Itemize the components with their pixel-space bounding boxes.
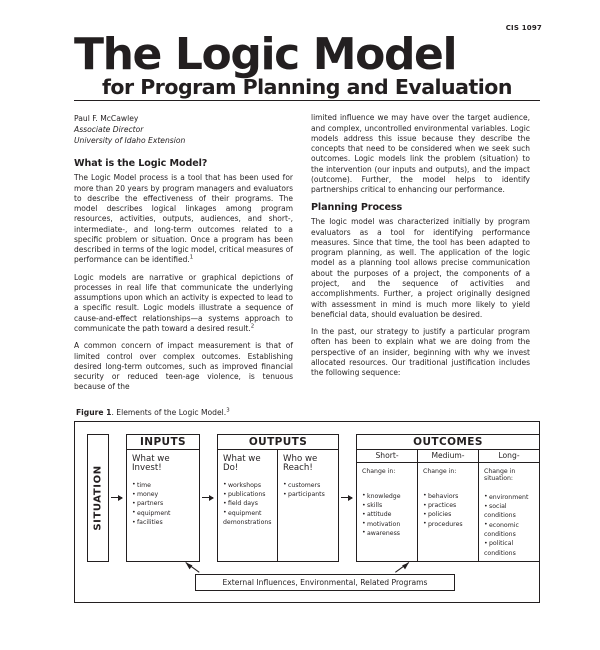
byline: Paul F. McCawley Associate Director Univ…: [74, 113, 293, 146]
paragraph-right-2: In the past, our strategy to justify a p…: [311, 327, 530, 378]
paragraph-left-3: A common concern of impact measurement i…: [74, 341, 293, 392]
list-item: awareness: [362, 530, 413, 539]
footnote-marker-2: 2: [251, 324, 254, 330]
outcomes-medium-label: Medium-: [418, 450, 479, 463]
two-column-body: Paul F. McCawley Associate Director Univ…: [74, 113, 540, 399]
paragraph-right-lead: limited influence we may have over the t…: [311, 113, 530, 195]
inputs-item-list: time money partners equipment facilities: [132, 482, 195, 528]
paragraph-left-2: Logic models are narrative or graphical …: [74, 273, 293, 335]
list-item: workshops: [223, 482, 273, 491]
diagram-box-situation: SITUATION: [87, 434, 109, 562]
outcomes-header: OUTCOMES: [357, 435, 539, 450]
inputs-lead: What we Invest!: [132, 455, 195, 474]
outputs-activities-cell: What we Do! workshops publications field…: [218, 450, 278, 562]
outcomes-short-cell: Change in: knowledge skills attitude mot…: [357, 463, 418, 562]
list-item: money: [132, 491, 195, 500]
outcomes-short-list: knowledge skills attitude motivation awa…: [362, 493, 413, 539]
paragraph-left-1: The Logic Model process is a tool that h…: [74, 173, 293, 265]
list-item: customers: [283, 482, 334, 491]
right-column: limited influence we may have over the t…: [311, 113, 530, 385]
figure-caption: Figure 1. Elements of the Logic Model.3: [76, 408, 540, 417]
paragraph-right-1: The logic model was characterized initia…: [311, 217, 530, 320]
outcomes-long-cell: Change in situation: environment social …: [479, 463, 539, 562]
outcomes-medium-cell: Change in: behaviors practices policies …: [418, 463, 479, 562]
outcomes-long-label: Long-: [479, 450, 539, 463]
outcomes-short-lead: Change in:: [362, 468, 413, 475]
situation-label: SITUATION: [93, 465, 104, 530]
author-name: Paul F. McCawley: [74, 113, 293, 124]
arrow-inputs-to-outputs: [202, 497, 213, 498]
left-column: Paul F. McCawley Associate Director Univ…: [74, 113, 293, 399]
author-role: Associate Director: [74, 124, 293, 135]
list-item: attitude: [362, 511, 413, 520]
figure-caption-text: . Elements of the Logic Model.: [111, 408, 226, 417]
figure-caption-label: Figure 1: [76, 408, 111, 417]
heading-what-is-the-logic-model: What is the Logic Model?: [74, 158, 293, 169]
list-item: demonstrations: [223, 519, 273, 528]
outcomes-columns: Change in: knowledge skills attitude mot…: [357, 463, 539, 562]
page-subtitle: for Program Planning and Evaluation: [74, 77, 540, 98]
paragraph-left-2-text: Logic models are narrative or graphical …: [74, 273, 293, 333]
diagram-box-external-influences: External Influences, Environmental, Rela…: [195, 574, 455, 591]
figure-1: Figure 1. Elements of the Logic Model.3 …: [74, 408, 540, 603]
title-divider: [74, 100, 540, 101]
list-item: practices: [423, 502, 474, 511]
outputs-activities-lead: What we Do!: [223, 455, 273, 474]
logic-model-diagram: SITUATION INPUTS What we Invest! time mo…: [74, 421, 540, 603]
list-item: procedures: [423, 521, 474, 530]
list-item: conditions: [484, 512, 535, 521]
page-title: The Logic Model: [74, 34, 540, 76]
author-organization: University of Idaho Extension: [74, 135, 293, 146]
list-item: facilities: [132, 519, 195, 528]
outcomes-medium-list: behaviors practices policies procedures: [423, 493, 474, 530]
list-item: conditions: [484, 550, 535, 559]
arrow-situation-to-inputs: [111, 497, 122, 498]
inputs-body: What we Invest! time money partners equi…: [127, 450, 199, 528]
external-influences-label: External Influences, Environmental, Rela…: [222, 578, 427, 587]
list-item: behaviors: [423, 493, 474, 502]
list-item: policies: [423, 511, 474, 520]
outputs-audiences-cell: Who we Reach! customers participants: [278, 450, 338, 562]
heading-planning-process: Planning Process: [311, 202, 530, 213]
arrow-external-to-inputs-head: [186, 562, 193, 569]
list-item: participants: [283, 491, 334, 500]
outputs-audiences-list: customers participants: [283, 482, 334, 500]
list-item: equipment: [223, 510, 273, 519]
list-item: publications: [223, 491, 273, 500]
diagram-box-outcomes: OUTCOMES Short- Medium- Long- Change in:…: [356, 434, 540, 562]
outcomes-subheaders: Short- Medium- Long-: [357, 450, 539, 463]
arrow-outputs-to-outcomes: [341, 497, 352, 498]
paragraph-left-1-text: The Logic Model process is a tool that h…: [74, 173, 293, 264]
outcomes-long-list: environment social conditions economic c…: [484, 494, 535, 559]
diagram-box-outputs: OUTPUTS What we Do! workshops publicatio…: [217, 434, 339, 562]
list-item: equipment: [132, 510, 195, 519]
outputs-subcolumns: What we Do! workshops publications field…: [218, 450, 338, 562]
outcomes-short-label: Short-: [357, 450, 418, 463]
list-item: political: [484, 540, 535, 549]
outcomes-medium-lead: Change in:: [423, 468, 474, 475]
arrow-external-to-outcomes-line: [395, 562, 409, 572]
inputs-header: INPUTS: [127, 435, 199, 450]
list-item: economic: [484, 522, 535, 531]
list-item: motivation: [362, 521, 413, 530]
list-item: field days: [223, 500, 273, 509]
list-item: knowledge: [362, 493, 413, 502]
footnote-marker-1: 1: [190, 255, 193, 261]
footnote-marker-3: 3: [226, 407, 229, 413]
list-item: conditions: [484, 531, 535, 540]
arrow-external-to-inputs-line: [186, 562, 200, 572]
list-item: social: [484, 503, 535, 512]
document-page: CIS 1097 The Logic Model for Program Pla…: [0, 0, 600, 650]
outputs-audiences-lead: Who we Reach!: [283, 455, 334, 474]
title-block: The Logic Model for Program Planning and…: [74, 34, 540, 101]
list-item: time: [132, 482, 195, 491]
publication-code: CIS 1097: [506, 24, 542, 32]
list-item: skills: [362, 502, 413, 511]
arrow-external-to-outcomes-head: [402, 562, 409, 569]
list-item: partners: [132, 500, 195, 509]
outputs-activities-list: workshops publications field days equipm…: [223, 482, 273, 528]
outputs-header: OUTPUTS: [218, 435, 338, 450]
list-item: environment: [484, 494, 535, 503]
diagram-box-inputs: INPUTS What we Invest! time money partne…: [126, 434, 200, 562]
outcomes-long-lead: Change in situation:: [484, 468, 535, 482]
